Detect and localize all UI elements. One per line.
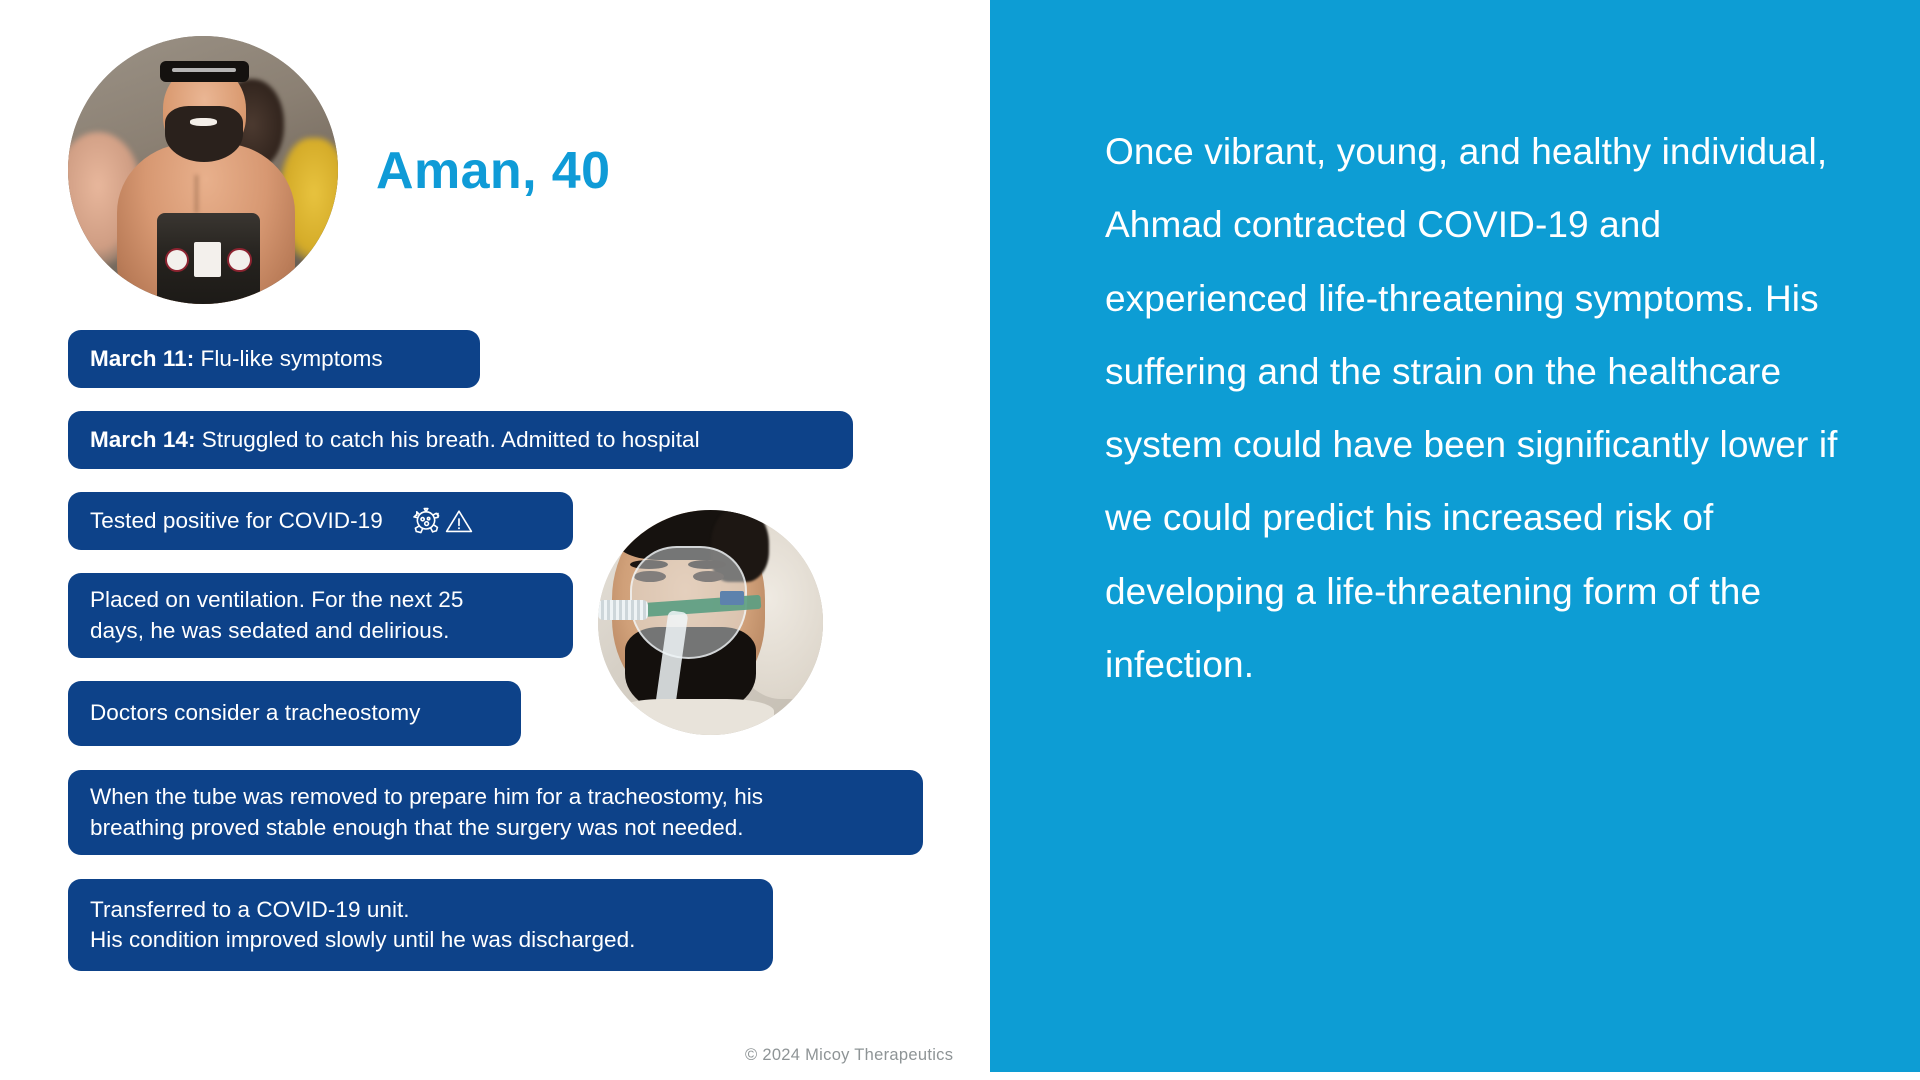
- slide-root: Aman, 40 March 11: Flu-like symptoms Mar…: [0, 0, 1920, 1080]
- warning-triangle-icon: [444, 506, 474, 536]
- avatar-log-badge-center: [194, 242, 221, 277]
- timeline-item-line-2: His condition improved slowly until he w…: [90, 927, 635, 952]
- timeline-item-tested-positive[interactable]: Tested positive for COVID-19: [68, 492, 573, 550]
- oxygen-mask-photo: [598, 510, 823, 735]
- avatar-torso-shadow: [195, 175, 198, 213]
- timeline-item-text: Transferred to a COVID-19 unit. His cond…: [90, 895, 635, 955]
- profile-header: Aman, 40: [68, 36, 768, 296]
- timeline-item-body: Doctors consider a tracheostomy: [90, 698, 420, 728]
- timeline-item-march-11[interactable]: March 11: Flu-like symptoms: [68, 330, 480, 388]
- timeline-item-date: March 11:: [90, 346, 194, 371]
- left-panel: Aman, 40 March 11: Flu-like symptoms Mar…: [0, 0, 990, 1080]
- page-title: Aman, 40: [376, 141, 610, 201]
- timeline-item-body: Tested positive for COVID-19: [90, 506, 383, 536]
- avatar-beard: [165, 106, 243, 162]
- mask-photo-blue-tab: [720, 591, 745, 605]
- timeline-item-text: March 14: Struggled to catch his breath.…: [90, 425, 700, 455]
- footer-copyright: © 2024 Micoy Therapeutics: [745, 1046, 953, 1065]
- mask-photo-hospital-gown: [616, 699, 774, 735]
- timeline-item-line-2: breathing proved stable enough that the …: [90, 815, 744, 840]
- timeline-item-line-1: When the tube was removed to prepare him…: [90, 784, 763, 809]
- timeline-item-tube-removed[interactable]: When the tube was removed to prepare him…: [68, 770, 923, 855]
- narrative-paragraph: Once vibrant, young, and healthy individ…: [1105, 115, 1865, 701]
- virus-icon: [409, 504, 443, 538]
- timeline-item-text: March 11: Flu-like symptoms: [90, 344, 383, 374]
- timeline-item-body: Flu-like symptoms: [194, 346, 382, 371]
- timeline-item-icons: [409, 504, 474, 538]
- timeline-item-transferred-discharged[interactable]: Transferred to a COVID-19 unit. His cond…: [68, 879, 773, 971]
- timeline-item-ventilation[interactable]: Placed on ventilation. For the next 25 d…: [68, 573, 573, 658]
- timeline-item-march-14[interactable]: March 14: Struggled to catch his breath.…: [68, 411, 853, 469]
- avatar-log-badge-right: [227, 248, 251, 272]
- avatar-smile: [190, 118, 217, 126]
- profile-avatar-photo: [68, 36, 338, 304]
- timeline-item-text: When the tube was removed to prepare him…: [90, 782, 763, 842]
- timeline-item-body: Struggled to catch his breath. Admitted …: [196, 427, 700, 452]
- timeline-item-line-1: Placed on ventilation. For the next 25: [90, 587, 463, 612]
- mask-photo-ribbed-tube: [598, 600, 648, 620]
- avatar-headband: [160, 61, 249, 81]
- timeline-item-tracheostomy-considered[interactable]: Doctors consider a tracheostomy: [68, 681, 521, 746]
- timeline-item-date: March 14:: [90, 427, 196, 452]
- timeline-item-line-2: days, he was sedated and delirious.: [90, 618, 449, 643]
- timeline-item-text: Placed on ventilation. For the next 25 d…: [90, 585, 463, 645]
- timeline-item-line-1: Transferred to a COVID-19 unit.: [90, 897, 410, 922]
- right-panel: Once vibrant, young, and healthy individ…: [990, 0, 1920, 1072]
